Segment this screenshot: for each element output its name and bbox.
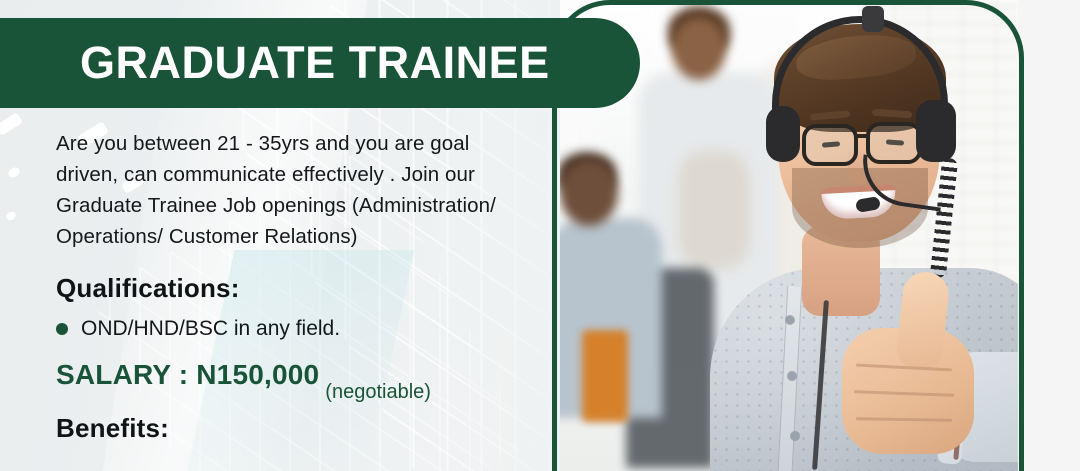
header-banner: GRADUATE TRAINEE — [0, 18, 640, 108]
photo-eyeglasses-lens — [802, 124, 858, 166]
qualification-item-label: OND/HND/BSC in any field. — [81, 317, 340, 341]
salary-line: SALARY : N150,000 (negotiable) — [56, 359, 526, 391]
photo-shirt-button — [791, 432, 799, 440]
photo-headset-adjuster — [862, 6, 884, 32]
qualification-item: OND/HND/BSC in any field. — [56, 317, 526, 341]
bullet-icon — [56, 323, 68, 335]
salary-amount: SALARY : N150,000 — [56, 359, 319, 391]
photo-eyeglasses-bridge — [856, 134, 870, 138]
photo-colleague-standing-head — [672, 18, 726, 80]
photo-shirt-button — [786, 316, 794, 324]
photo-colleague-standing-arm — [678, 150, 750, 270]
intro-paragraph: Are you between 21 - 35yrs and you are g… — [56, 128, 526, 252]
job-advert-poster: GRADUATE TRAINEE Are you between 21 - 35… — [0, 0, 1080, 471]
photo-headset-earcup — [766, 106, 800, 162]
photo-orange-object — [582, 330, 628, 422]
photo-headset-earcup — [916, 100, 956, 162]
photo-colleague-seated-head — [560, 160, 618, 226]
salary-negotiable-note: (negotiable) — [325, 381, 431, 404]
advert-content: Are you between 21 - 35yrs and you are g… — [56, 128, 526, 444]
qualifications-heading: Qualifications: — [56, 273, 526, 304]
photo-shirt-button — [788, 372, 796, 380]
right-margin — [1022, 0, 1080, 471]
benefits-heading: Benefits: — [56, 413, 526, 444]
page-title: GRADUATE TRAINEE — [0, 37, 550, 89]
